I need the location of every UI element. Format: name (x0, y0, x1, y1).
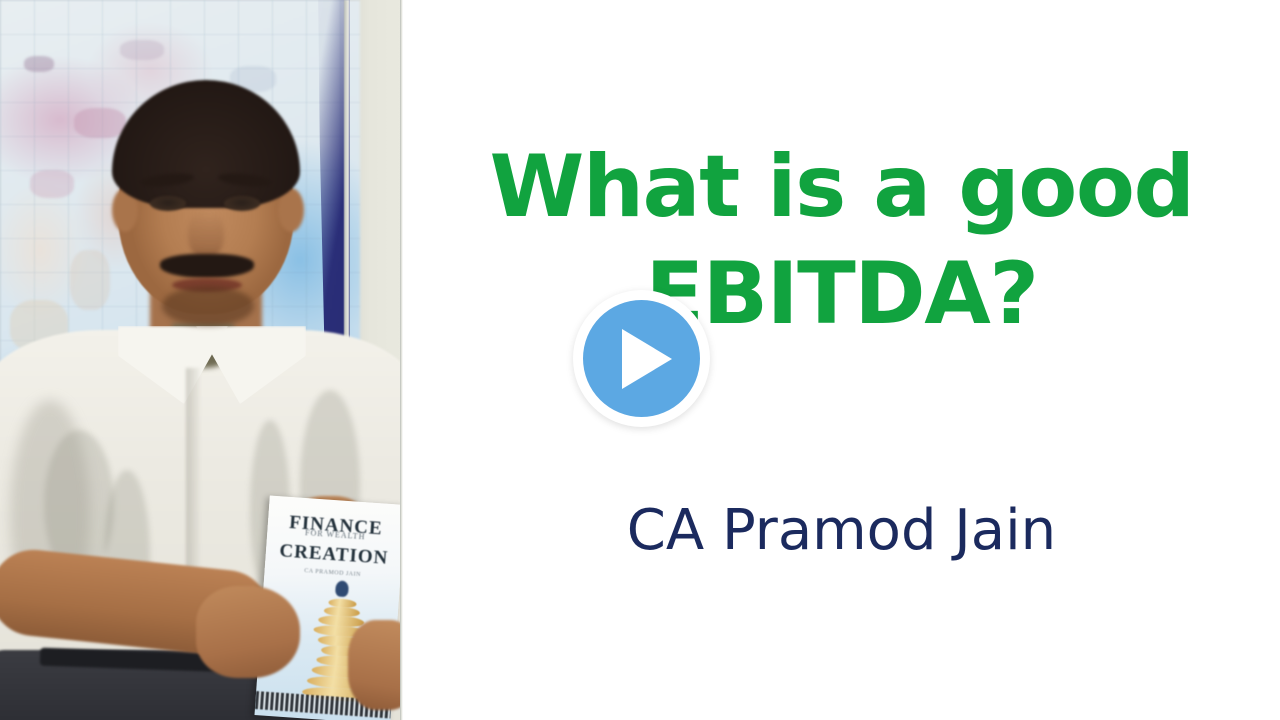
hand-right (348, 620, 402, 710)
hair (112, 80, 300, 208)
eye-right (224, 196, 260, 211)
chin-shadow (162, 286, 254, 326)
presenter-name: CA Pramod Jain (403, 498, 1280, 563)
play-button[interactable] (573, 290, 710, 427)
mustache (160, 254, 254, 278)
title-panel: What is a good EBITDA? CA Pramod Jain (403, 0, 1280, 720)
video-thumbnail-card: FINANCE FOR WEALTH CREATION CA PRAMOD JA… (0, 0, 1280, 720)
play-triangle-glyph (622, 329, 672, 389)
page-title: What is a good EBITDA? (403, 134, 1280, 347)
play-icon (583, 300, 700, 417)
hand-lower (196, 586, 300, 678)
figurine-top (335, 580, 349, 597)
nose (188, 210, 224, 258)
video-frame[interactable]: FINANCE FOR WEALTH CREATION CA PRAMOD JA… (0, 0, 402, 720)
eye-left (150, 196, 186, 211)
